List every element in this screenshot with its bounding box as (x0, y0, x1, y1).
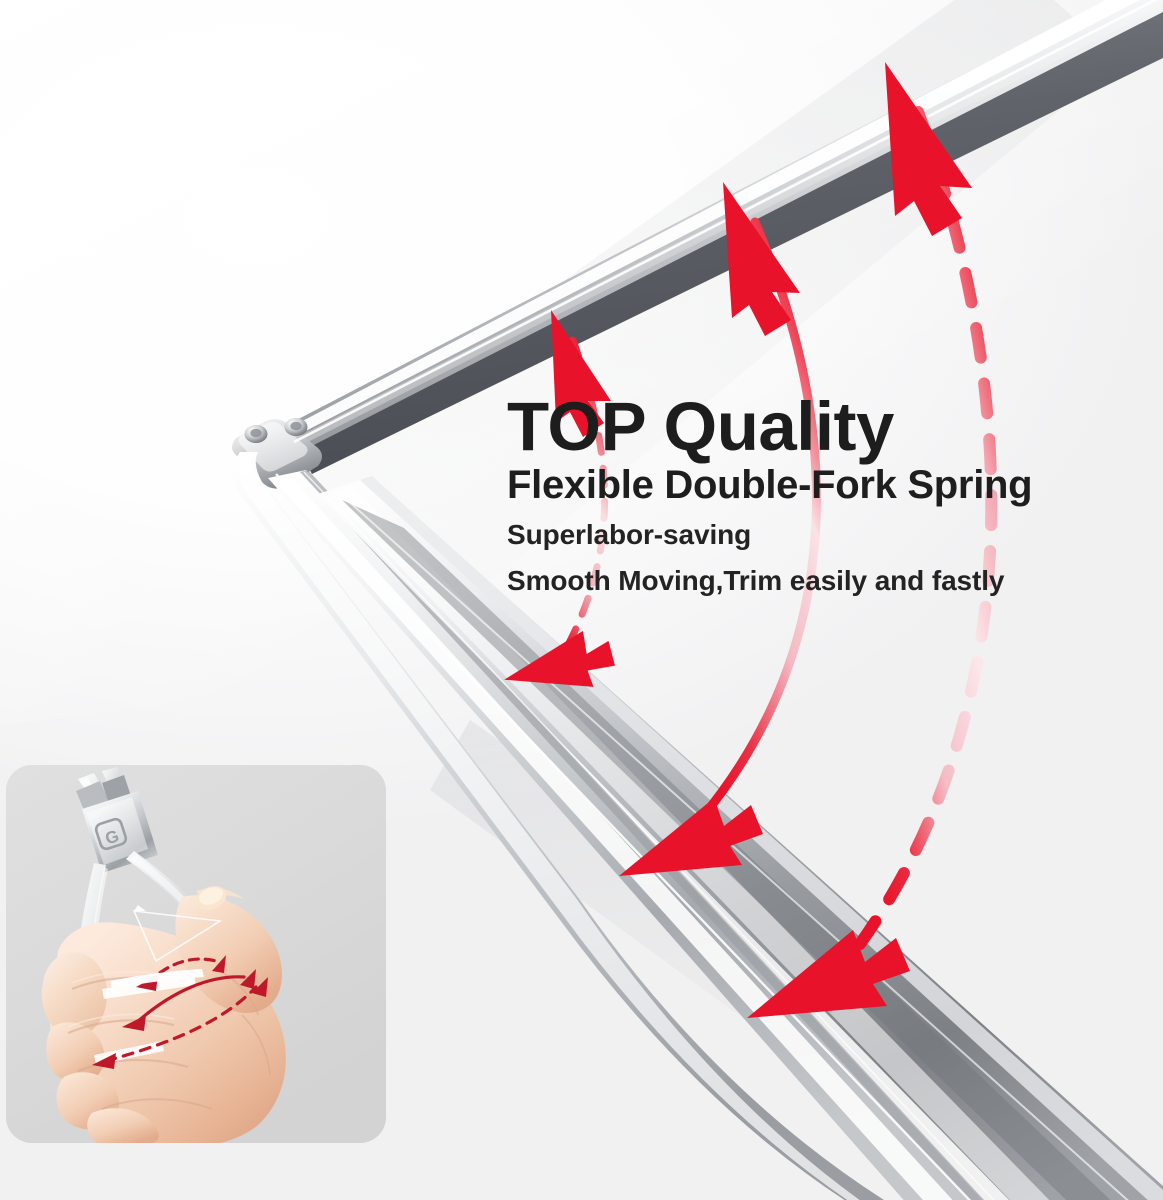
hand-grip-demo-inset: G (6, 765, 386, 1143)
feature-copy-block: TOP Quality Flexible Double-Fork Spring … (507, 394, 1112, 598)
headline: TOP Quality (507, 394, 1112, 460)
subheadline: Flexible Double-Fork Spring (507, 465, 1112, 506)
product-feature-banner: TOP Quality Flexible Double-Fork Spring … (0, 0, 1163, 1200)
body-line-1: Superlabor-saving (507, 518, 1112, 552)
hand-grip-illustration: G (6, 765, 386, 1143)
body-line-2: Smooth Moving,Trim easily and fastly (507, 564, 1112, 598)
